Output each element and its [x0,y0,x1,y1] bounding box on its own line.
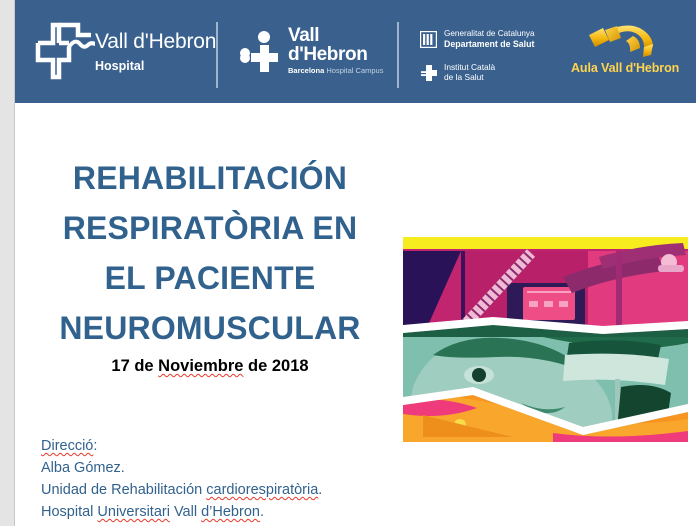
title-line-1: REHABILITACIÓN [20,153,400,203]
logo-ics-text: Institut Català de la Salut [444,62,495,82]
credits-misspelled-cardiorespiratoria: cardiorespiratòria [206,482,318,498]
ics-cross-icon [420,64,437,81]
credits-line-hospital: Hospital Universitari Vall d’Hebron. [41,501,322,523]
slide-header-band: Vall d'Hebron Hospital Vall d'Hebron Bar… [0,0,696,103]
credits-misspelled-direccio: Direcció [41,438,93,454]
header-divider-2 [397,22,399,88]
credits-line-direccio: Direcció: [41,435,322,457]
credits-line-unit: Unidad de Rehabilitación cardiorespiratò… [41,479,322,501]
photo-artwork [403,237,688,442]
logo-aula-vall-hebron: Aula Vall d'Hebron [571,24,675,86]
logo-hospital-line2: Hospital [95,58,216,74]
title-line-2: RESPIRATÒRIA EN [20,203,400,253]
page-title: REHABILITACIÓN RESPIRATÒRIA EN EL PACIEN… [20,153,400,353]
credits-misspelled-universitari: Universitari [97,504,170,520]
date-suffix: de 2018 [243,357,308,375]
header-divider-1 [216,22,218,88]
logo-campus-line3: Barcelona Hospital Campus [288,66,383,76]
logo-generalitat-text: Generalitat de Catalunya Departament de … [444,29,535,49]
editor-gutter-border [14,0,15,526]
logo-vall-hebron-campus: Vall d'Hebron Barcelona Hospital Campus [240,26,388,82]
aula-gold-ribbon-icon [587,24,659,58]
logo-campus-line3-bold: Barcelona [288,66,324,75]
logo-hospital-line1: Vall d'Hebron [95,30,216,54]
generalitat-line1: Generalitat de Catalunya [444,29,535,39]
logo-ics-row: Institut Català de la Salut [420,60,570,84]
date-misspelled-word: Noviembre [158,357,243,375]
logo-generalitat-ics: Generalitat de Catalunya Departament de … [420,27,570,83]
ics-line1: Institut Català [444,62,495,72]
title-line-3: EL PACIENTE [20,253,400,303]
credits-unit-suffix: . [318,482,322,498]
credits-block: Direcció: Alba Gómez. Unidad de Rehabili… [41,435,322,523]
logo-campus-line3-light: Hospital Campus [324,66,383,75]
credits-hospital-suffix: . [260,504,264,520]
logo-aula-label: Aula Vall d'Hebron [571,61,675,75]
event-date: 17 de Noviembre de 2018 [20,357,400,376]
credits-line-name: Alba Gómez. [41,457,322,479]
credits-hospital-mid: Vall [170,504,201,520]
ics-line2: de la Salut [444,72,495,82]
credits-unit-prefix: Unidad de Rehabilitación [41,482,206,498]
credits-hospital-prefix: Hospital [41,504,97,520]
logo-generalitat-row: Generalitat de Catalunya Departament de … [420,27,570,51]
generalitat-line2: Departament de Salut [444,39,535,49]
logo-campus-line1: Vall [288,26,383,45]
credits-direccio-suffix: : [93,438,97,454]
posterized-patient-ventilator-photo [403,237,688,442]
editor-left-gutter [0,0,14,526]
credits-misspelled-dhebron: d’Hebron [201,504,260,520]
title-line-4: NEUROMUSCULAR [20,303,400,353]
vall-hebron-cross-figure-icon [240,30,284,74]
date-prefix: 17 de [111,357,158,375]
logo-campus-line2: d'Hebron [288,45,383,64]
logo-vall-hebron-hospital: Vall d'Hebron Hospital [33,20,203,86]
generalitat-four-bars-icon [420,31,437,48]
hospital-cross-ecg-icon [33,20,95,82]
slide-canvas: Vall d'Hebron Hospital Vall d'Hebron Bar… [0,0,696,526]
